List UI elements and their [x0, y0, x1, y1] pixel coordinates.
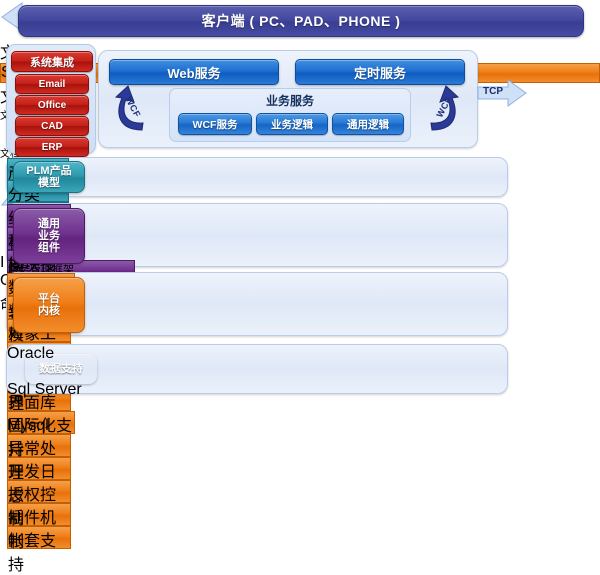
- database-mysql[interactable]: Mysql: [7, 417, 89, 453]
- services-panel: Web服务 定时服务 业务服务 WCF服务 业务逻辑 通用逻辑 WCF WCF: [98, 50, 478, 148]
- architecture-diagram: 客户端 ( PC、PAD、PHONE ) 系统集成 Email Office C…: [0, 0, 600, 400]
- core-row-label: 平台 内核: [13, 277, 85, 333]
- business-service-title: 业务服务: [170, 92, 410, 109]
- sysint-item-office[interactable]: Office: [15, 95, 89, 115]
- common-logic-chip[interactable]: 通用逻辑: [332, 113, 404, 135]
- business-logic-chip[interactable]: 业务逻辑: [256, 113, 328, 135]
- general-row-label: 通用 业务 组件: [13, 208, 85, 264]
- wcf-arrow-left: WCF: [109, 84, 155, 136]
- general-row-label-line3: 组件: [38, 242, 60, 254]
- database-sqlserver[interactable]: Sql Server: [7, 381, 95, 417]
- platform-core-row: 平台 内核 数据库封装 业务建模 对象工厂 静态枚举 缓存管理 界面库 国际化支…: [6, 272, 508, 336]
- system-integration-panel: 系统集成 Email Office CAD ERP: [6, 44, 96, 154]
- data-support-label: 数据支持: [25, 354, 97, 384]
- sysint-item-erp[interactable]: ERP: [15, 137, 89, 157]
- tcp-arrow: TCP: [476, 78, 528, 108]
- general-row-label-line1: 通用: [38, 218, 60, 230]
- general-components-row: 通用 业务 组件 组织结构 事件订阅 模块授权 操作日志 流程管理 消息管理 对…: [6, 203, 508, 267]
- plm-row-label-line1: PLM产品: [26, 165, 71, 177]
- plm-row-label-line2: 模型: [38, 177, 60, 189]
- core-chip-dev-log[interactable]: 开发日志: [7, 457, 71, 480]
- data-support-row: 数据支持 Oracle Sql Server Mysql: [6, 344, 508, 394]
- timer-service-box[interactable]: 定时服务: [295, 59, 465, 85]
- client-banner-label: 客户端 ( PC、PAD、PHONE ): [202, 11, 401, 31]
- plm-row-label: PLM产品 模型: [13, 161, 85, 193]
- web-service-box[interactable]: Web服务: [109, 59, 279, 85]
- core-row-label-line2: 内核: [38, 305, 60, 317]
- wcf-service-chip[interactable]: WCF服务: [178, 113, 252, 135]
- wcf-arrow-right: WCF: [419, 84, 465, 136]
- system-integration-title: 系统集成: [11, 51, 93, 72]
- sysint-item-cad[interactable]: CAD: [15, 116, 89, 136]
- general-row-label-line2: 业务: [38, 230, 60, 242]
- core-row-label-line1: 平台: [38, 293, 60, 305]
- core-chip-auth-control[interactable]: 授权控制: [7, 480, 71, 503]
- core-chip-plugin-mechanism[interactable]: 插件机制: [7, 503, 71, 526]
- plm-model-row: PLM产品 模型 产品 分类 变更 数据集 流程 资源: [6, 157, 508, 197]
- tcp-label: TCP: [478, 86, 508, 97]
- database-mysql-label: Mysql: [7, 417, 89, 435]
- client-banner: 客户端 ( PC、PAD、PHONE ): [18, 5, 584, 37]
- business-service-group: 业务服务 WCF服务 业务逻辑 通用逻辑: [169, 88, 411, 142]
- sysint-item-email[interactable]: Email: [15, 74, 89, 94]
- core-chip-account-set[interactable]: 帐套支持: [7, 526, 71, 549]
